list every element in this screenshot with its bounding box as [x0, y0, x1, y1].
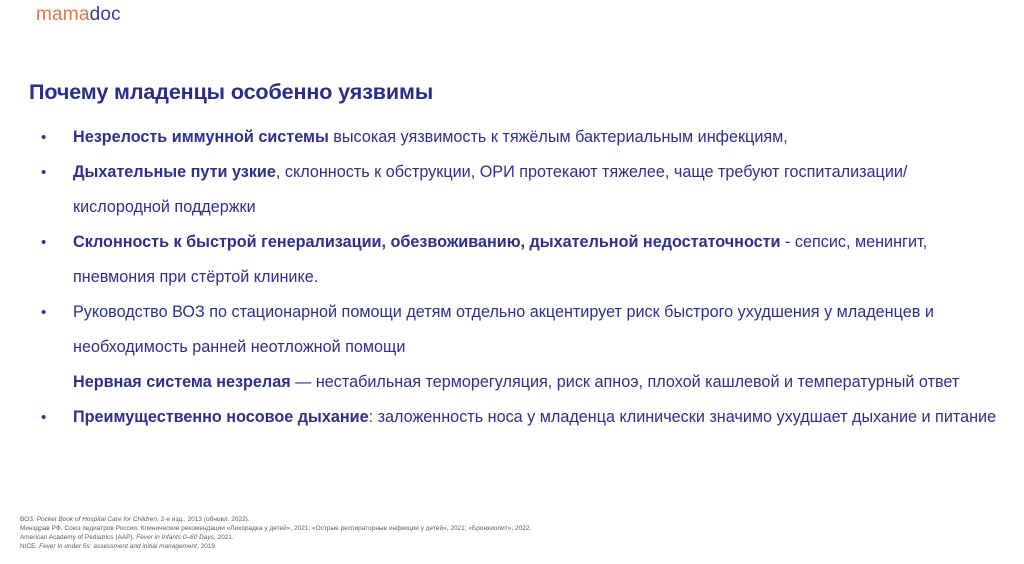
- footnote-line: Минздрав РФ, Союз педиатров России. Клин…: [20, 524, 720, 533]
- footnote-source-title: Pocket Book of Hospital Care for Childre…: [37, 516, 157, 523]
- footnote-source-title: Fever in Infants 0–60 Days: [136, 534, 214, 541]
- footnote-source-suffix: , 2021.: [214, 534, 234, 541]
- list-item-lead: Нервная система незрелая: [73, 373, 291, 391]
- list-item: • Руководство ВОЗ по стационарной помощи…: [29, 295, 1004, 365]
- list-item-text: Руководство ВОЗ по стационарной помощи д…: [73, 303, 934, 356]
- bullet-marker-icon: •: [41, 120, 46, 155]
- footnote-line: NICE. Fever in under 5s: assessment and …: [20, 542, 720, 551]
- bullet-marker-icon: •: [41, 155, 46, 190]
- list-item: • Дыхательные пути узкие, склонность к о…: [29, 155, 1004, 225]
- list-item: • Склонность к быстрой генерализации, об…: [29, 225, 1004, 295]
- bullet-marker-icon: •: [41, 400, 46, 435]
- logo-text-mama: mama: [36, 4, 90, 25]
- footnote-source-title: Fever in under 5s: assessment and initia…: [39, 543, 197, 550]
- list-item: • Преимущественно носовое дыхание: залож…: [29, 400, 1004, 435]
- footnote-source-suffix: , 2-е изд., 2013 (обновл. 2022).: [157, 516, 250, 523]
- bullet-marker-icon: •: [41, 295, 46, 330]
- list-item-lead: Преимущественно носовое дыхание: [73, 408, 369, 426]
- list-item-text: высокая уязвимость к тяжёлым бактериальн…: [329, 128, 788, 146]
- sources-footnote: ВОЗ. Pocket Book of Hospital Care for Ch…: [20, 515, 720, 551]
- footnote-source-prefix: NICE.: [20, 543, 39, 550]
- footnote-source-prefix: ВОЗ.: [20, 516, 37, 523]
- list-item: • Незрелость иммунной системы высокая уя…: [29, 120, 1004, 155]
- slide-title: Почему младенцы особенно уязвимы: [29, 80, 433, 105]
- bullet-list: • Незрелость иммунной системы высокая уя…: [29, 120, 1004, 435]
- footnote-line: American Academy of Pediatrics (AAP). Fe…: [20, 533, 720, 542]
- footnote-line: ВОЗ. Pocket Book of Hospital Care for Ch…: [20, 515, 720, 524]
- list-item-text: : заложенность носа у младенца клиническ…: [369, 408, 996, 426]
- brand-logo: mamadoc: [36, 4, 121, 26]
- bullet-marker-icon: •: [41, 225, 46, 260]
- list-item-lead: Склонность к быстрой генерализации, обез…: [73, 233, 781, 251]
- list-item-text: — нестабильная терморегуляция, риск апно…: [291, 373, 960, 391]
- logo-text-doc: doc: [90, 4, 121, 25]
- list-item: Нервная система незрелая — нестабильная …: [29, 365, 1004, 400]
- footnote-source-suffix: , 2019.: [197, 543, 217, 550]
- footnote-source-prefix: American Academy of Pediatrics (AAP).: [20, 534, 136, 541]
- list-item-lead: Дыхательные пути узкие: [73, 163, 276, 181]
- list-item-lead: Незрелость иммунной системы: [73, 128, 329, 146]
